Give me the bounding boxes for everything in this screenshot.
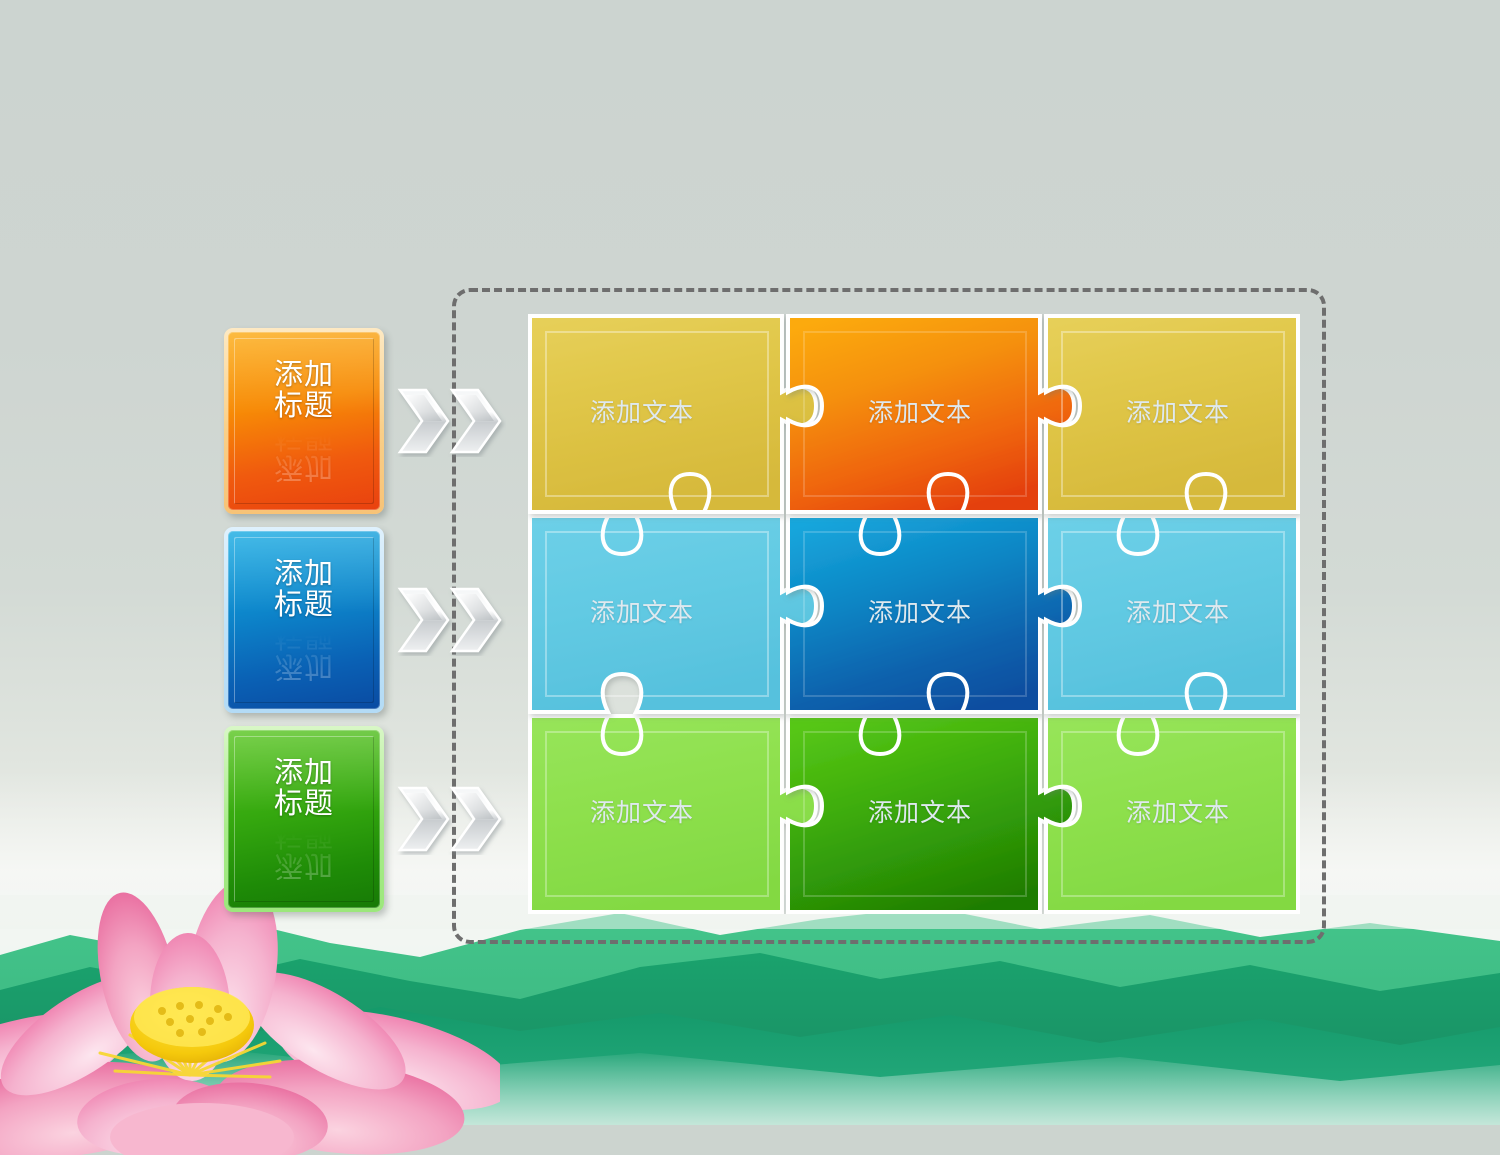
title-card-green-face: 添加 标题 添加 标题 — [228, 730, 380, 908]
bevel-edge — [234, 736, 374, 902]
title-card-orange-face: 添加 标题 添加 标题 — [228, 332, 380, 510]
puzzle-piece-blue-center[interactable] — [788, 516, 1074, 712]
double-chevron-right-icon — [396, 783, 506, 855]
lotus-flower — [0, 875, 500, 1155]
title-card-orange[interactable]: 添加 标题 添加 标题 — [224, 328, 384, 514]
title-card-blue-face: 添加 标题 添加 标题 — [228, 531, 380, 709]
bevel-edge — [234, 537, 374, 703]
puzzle-piece-cyan-right[interactable] — [1046, 516, 1298, 712]
puzzle-piece-cyan-left[interactable] — [530, 516, 816, 712]
double-chevron-right-icon — [396, 385, 506, 457]
puzzle-piece-green-left[interactable] — [530, 716, 816, 912]
puzzle-grid — [528, 314, 1300, 914]
puzzle-piece-green-right[interactable] — [1046, 716, 1298, 912]
puzzle-piece-orange-center[interactable] — [788, 316, 1074, 512]
title-card-green[interactable]: 添加 标题 添加 标题 — [224, 726, 384, 912]
title-card-blue[interactable]: 添加 标题 添加 标题 — [224, 527, 384, 713]
puzzle-piece-green-center[interactable] — [788, 716, 1074, 912]
puzzle-piece-yellow-left[interactable] — [530, 316, 816, 512]
bevel-edge — [234, 338, 374, 504]
puzzle-board: 添加文本 添加文本 添加文本 添加文本 添加文本 添加文本 添加文本 添加文本 … — [528, 314, 1300, 914]
puzzle-piece-yellow-right[interactable] — [1046, 316, 1298, 512]
double-chevron-right-icon — [396, 584, 506, 656]
